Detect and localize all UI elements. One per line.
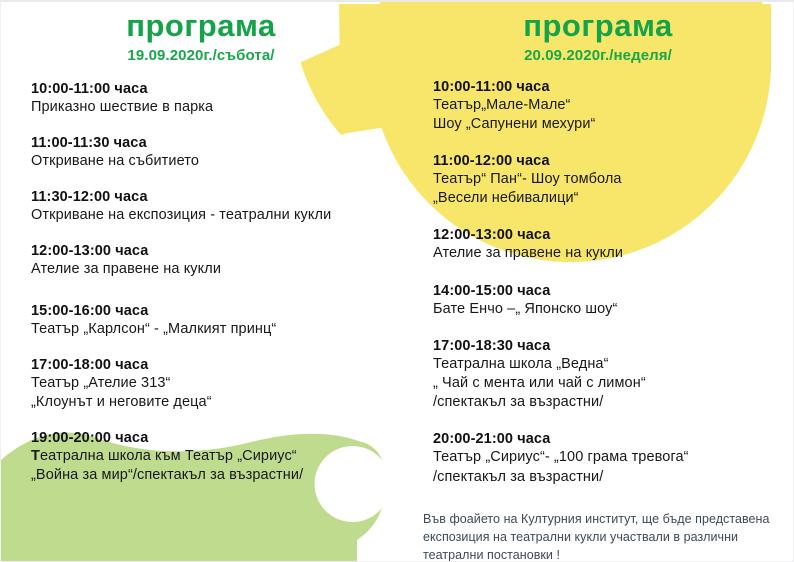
event-time: 14:00-15:00 часа	[433, 282, 789, 300]
event-description-line: Ателие за правене на кукли	[433, 244, 789, 263]
sunday-title: програма	[401, 10, 794, 43]
event-time: 17:00-18:30 часа	[433, 337, 789, 355]
event-time: 17:00-18:00 часа	[31, 356, 393, 374]
event-item: 12:00-13:00 часаАтелие за правене на кук…	[31, 242, 393, 279]
event-description-line: „Война за мир“/спектакъл за възрастни/	[31, 466, 393, 485]
footnote-line: експозиция на театрални кукли участвали …	[423, 528, 773, 546]
event-time: 20:00-21:00 часа	[433, 430, 789, 448]
event-time: 11:00-11:30 часа	[31, 134, 393, 152]
event-description-line: „Весели небивалици“	[433, 189, 789, 208]
event-description-line: Приказно шествие в парка	[31, 98, 393, 117]
sunday-column: програма 20.09.2020г./неделя/ 10:00-11:0…	[401, 2, 794, 505]
saturday-event-list: 10:00-11:00 часаПриказно шествие в парка…	[31, 80, 393, 486]
event-time: 15:00-16:00 часа	[31, 302, 393, 320]
event-description-line: Театрална школа към Театър „Сириус“	[31, 447, 393, 466]
event-item: 11:00-12:00 часаТеатър“ Пан“- Шоу томбол…	[433, 152, 789, 208]
sunday-event-list: 10:00-11:00 часаТеатър„Мале-Мале“Шоу „Са…	[433, 78, 789, 487]
event-item: 20:00-21:00 часаТеатър „Сириус“- „100 гр…	[433, 430, 789, 486]
event-time: 11:30-12:00 часа	[31, 188, 393, 206]
event-description-line: Театрална школа „Ведна“	[433, 355, 789, 374]
sunday-header: програма 20.09.2020г./неделя/	[401, 2, 794, 64]
program-poster: програма 19.09.2020г./събота/ 10:00-11:0…	[0, 0, 794, 562]
event-description-line: Театър“ Пан“- Шоу томбола	[433, 170, 789, 189]
event-time: 12:00-13:00 часа	[433, 226, 789, 244]
exhibition-footnote: Във фоайето на Културния институт, ще бъ…	[423, 510, 773, 562]
event-item: 12:00-13:00 часаАтелие за правене на кук…	[433, 226, 789, 263]
event-description-line: /спектакъл за възрастни/	[433, 393, 789, 412]
event-item: 17:00-18:30 часаТеатрална школа „Ведна“„…	[433, 337, 789, 413]
saturday-header: програма 19.09.2020г./събота/	[1, 2, 401, 64]
footnote-line: театрални постановки !	[423, 546, 773, 562]
event-time: 10:00-11:00 часа	[31, 80, 393, 98]
event-description-line: Откриване на експозиция - театрални кукл…	[31, 206, 393, 225]
saturday-title: програма	[1, 10, 401, 43]
event-description-line: /спектакъл за възрастни/	[433, 468, 789, 487]
event-time: 11:00-12:00 часа	[433, 152, 789, 170]
event-item: 10:00-11:00 часаПриказно шествие в парка	[31, 80, 393, 117]
saturday-date: 19.09.2020г./събота/	[1, 47, 401, 64]
event-description-line: „ Чай с мента или чай с лимон“	[433, 374, 789, 393]
event-item: 10:00-11:00 часаТеатър„Мале-Мале“Шоу „Са…	[433, 78, 789, 134]
event-description-line: Шоу „Сапунени мехури“	[433, 115, 789, 134]
event-time: 10:00-11:00 часа	[433, 78, 789, 96]
event-item: 15:00-16:00 часаТеатър „Карлсон“ - „Малк…	[31, 302, 393, 339]
event-description-line: Театър„Мале-Мале“	[433, 96, 789, 115]
event-description-line: Театър „Ателие 313“	[31, 374, 393, 393]
event-item: 19:00-20:00 часаТеатрална школа към Теат…	[31, 429, 393, 485]
saturday-column: програма 19.09.2020г./събота/ 10:00-11:0…	[1, 2, 401, 501]
event-item: 14:00-15:00 часаБате Енчо –„ Японско шоу…	[433, 282, 789, 319]
event-description-line: „Клоунът и неговите деца“	[31, 393, 393, 412]
sunday-date: 20.09.2020г./неделя/	[401, 47, 794, 64]
event-item: 11:00-11:30 часаОткриване на събитието	[31, 134, 393, 171]
event-description-line: Откриване на събитието	[31, 152, 393, 171]
event-description-line: Бате Енчо –„ Японско шоу“	[433, 300, 789, 319]
event-item: 17:00-18:00 часаТеатър „Ателие 313“„Клоу…	[31, 356, 393, 412]
event-item: 11:30-12:00 часаОткриване на експозиция …	[31, 188, 393, 225]
event-description-line: Театър „Сириус“- „100 грама тревога“	[433, 448, 789, 467]
event-description-line: Ателие за правене на кукли	[31, 260, 393, 279]
event-time: 19:00-20:00 часа	[31, 429, 393, 447]
footnote-line: Във фоайето на Културния институт, ще бъ…	[423, 510, 773, 528]
event-description-line: Театър „Карлсон“ - „Малкият принц“	[31, 320, 393, 339]
event-time: 12:00-13:00 часа	[31, 242, 393, 260]
